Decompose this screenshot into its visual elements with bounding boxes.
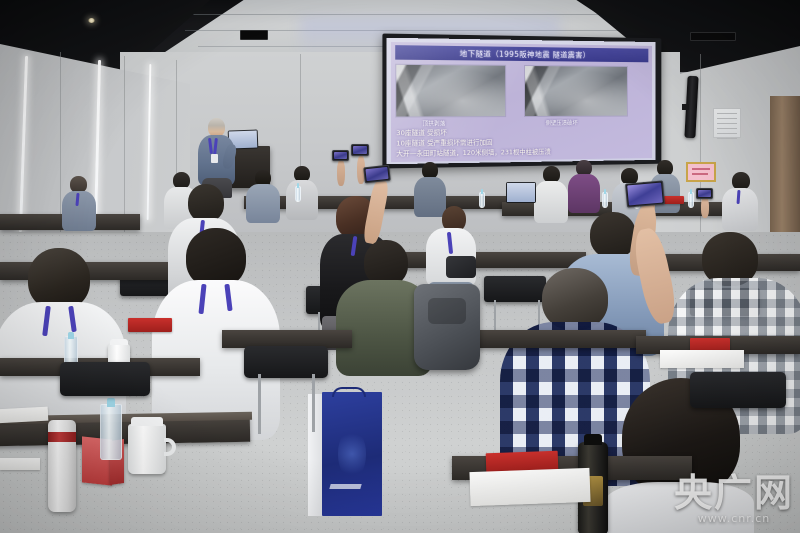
presenter-badge (211, 154, 218, 163)
phone-icon (625, 180, 665, 207)
phone-icon (351, 144, 369, 156)
attendee-laptop (506, 182, 536, 203)
ceiling-panel-line (170, 14, 640, 15)
slide-photo-caption-right: 侧壁压溃破坏 (546, 119, 578, 127)
chair-leg (312, 374, 315, 432)
water-bottle (100, 404, 122, 460)
attendee-phone-raised (700, 188, 710, 218)
screenshot-root: 地下隧道（1995阪神地震 隧道震害） 顶拱剥落 侧壁压溃破坏 30座隧道 受损… (0, 0, 800, 533)
attendee (246, 170, 280, 222)
phone-icon (332, 150, 349, 161)
water-bottle (602, 192, 608, 208)
slide-photo-left (395, 64, 506, 118)
ceiling-vent (240, 30, 268, 40)
framed-pink-sign (686, 162, 716, 182)
water-bottle (295, 186, 301, 202)
presentation-slide: 地下隧道（1995阪神地震 隧道震害） 顶拱剥落 侧壁压溃破坏 30座隧道 受损… (391, 42, 652, 162)
slide-photo-right (524, 65, 628, 117)
slide-photo-caption-left: 顶拱剥落 (423, 119, 446, 127)
attendee-head (28, 248, 90, 310)
speaker-bracket (682, 104, 689, 110)
wall-panel-seam (124, 56, 125, 232)
conference-tote-bag (322, 392, 382, 516)
wall-panel-seam (60, 52, 61, 232)
attendee (286, 166, 318, 220)
projection-screen: 地下隧道（1995阪神地震 隧道震害） 顶拱剥落 侧壁压溃破坏 30座隧道 受损… (387, 38, 656, 164)
red-booklet (664, 196, 684, 204)
attendee-phone-raised (336, 150, 346, 186)
chair (690, 372, 786, 408)
camera-icon (446, 256, 476, 278)
phone-icon (696, 188, 713, 199)
paper-sheet (0, 407, 48, 424)
ceiling-downlight (88, 18, 95, 23)
chair (244, 346, 328, 378)
thermos-band (48, 432, 76, 442)
paper-sheet (469, 468, 590, 506)
slide-title: 地下隧道（1995阪神地震 隧道震害） (395, 45, 648, 62)
red-booklet (128, 318, 172, 332)
attendee (62, 176, 96, 230)
white-ceramic-mug-with-lid (128, 424, 166, 474)
attendee (722, 172, 758, 230)
water-bottle (479, 192, 485, 208)
slide-bullet-list: 30座隧道 受损坏 10座隧道 受严重损坏需进行加固 大开—永田町站隧道，120… (396, 127, 648, 160)
presenter (196, 118, 236, 190)
ceiling-vent (690, 32, 736, 41)
water-bottle (688, 192, 694, 208)
paper-sheet (660, 350, 744, 368)
attendee (568, 160, 600, 212)
chair (60, 362, 150, 396)
chair-leg (258, 374, 261, 434)
gray-backpack (414, 284, 480, 370)
phone-icon (363, 165, 391, 184)
wall-notice-sheet (713, 108, 741, 138)
slide-bullet: 大开—永田町站隧道，120米侧墙，231根中柱被压溃 (396, 146, 648, 159)
paper-sheet (0, 458, 40, 470)
